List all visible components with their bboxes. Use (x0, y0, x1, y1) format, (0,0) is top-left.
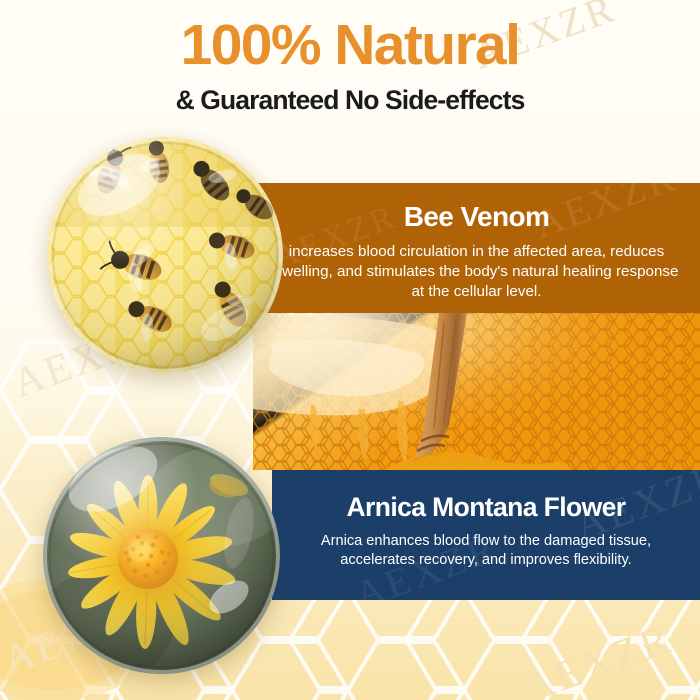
ingredient-title-arnica-montana-flower: Arnica Montana Flower (272, 492, 700, 523)
ingredient-image-arnica-montana-flower (43, 437, 280, 674)
ingredient-card-arnica-montana-flower: AEXZR AEXZR Arnica Montana Flower Arnica… (272, 470, 700, 600)
ingredient-description-bee-venom: increases blood circulation in the affec… (253, 242, 700, 302)
page-subtitle: & Guaranteed No Side-effects (0, 85, 700, 116)
honeycomb-photo (253, 313, 700, 470)
ingredient-card-bee-venom: AEXZR AEXZR Bee Venom increases blood ci… (253, 183, 700, 313)
page-title: 100% Natural (0, 0, 700, 74)
ingredient-image-bee-venom (47, 137, 283, 373)
ingredient-description-arnica-montana-flower: Arnica enhances blood flow to the damage… (272, 532, 700, 570)
header: 100% Natural & Guaranteed No Side-effect… (0, 0, 700, 116)
ingredient-title-bee-venom: Bee Venom (253, 201, 700, 233)
